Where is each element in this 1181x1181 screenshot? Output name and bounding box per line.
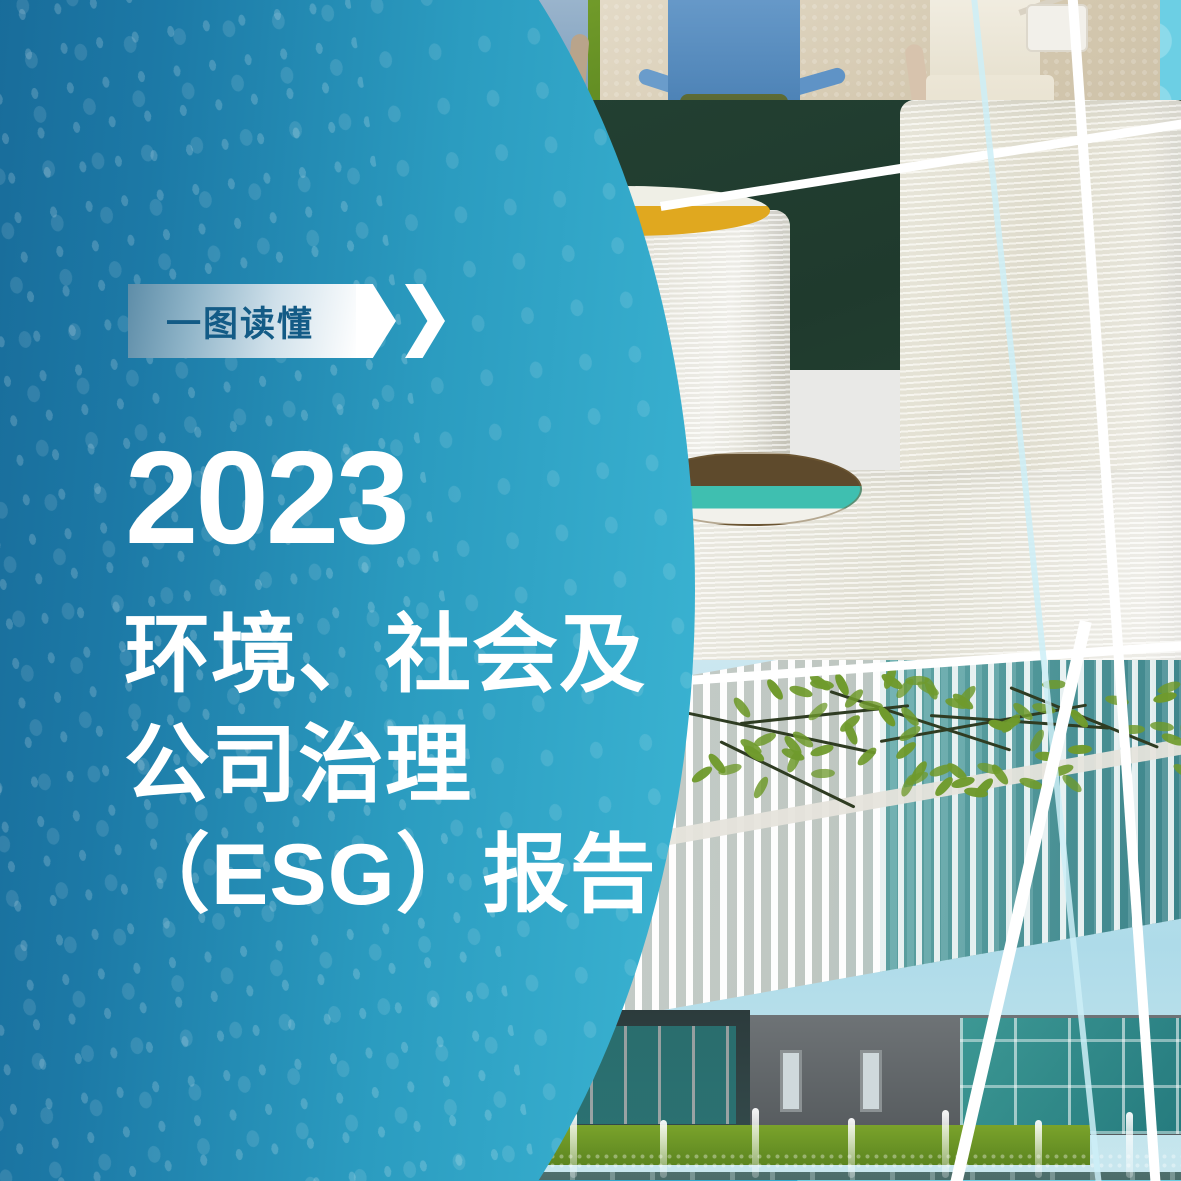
tree-leaf (1027, 728, 1046, 753)
tree-leaf (751, 775, 770, 800)
tree-leaf (1018, 775, 1044, 791)
tree-leaf (788, 683, 814, 699)
tree-leaf (899, 772, 917, 798)
tree-leaf (1060, 772, 1084, 795)
chevron-right-icon (356, 284, 396, 358)
tree-leaf (1171, 762, 1181, 782)
tree-leaf (811, 769, 835, 779)
tree-leaf (810, 743, 836, 759)
tree-leaf (1149, 720, 1174, 732)
tree-leaf (764, 677, 785, 702)
base-window-2 (860, 1050, 882, 1112)
tree-leaf (806, 700, 830, 723)
tree-leaf (1068, 745, 1092, 755)
tree-branches (680, 670, 1181, 820)
fountain-jet (1126, 1112, 1133, 1178)
fountain-jet (752, 1108, 759, 1178)
badge-body: 一图读懂 (128, 284, 358, 358)
badge-label: 一图读懂 (166, 296, 320, 347)
page-title: 环境、社会及 公司治理 （ESG）报告 (124, 600, 657, 930)
poster-canvas: 一图读懂 2023 环境、社会及 公司治理 （ESG）报告 (0, 0, 1181, 1181)
fountain-jet (1035, 1120, 1042, 1178)
title-line-1: 环境、社会及 (124, 600, 657, 710)
tree-leaf (893, 740, 917, 762)
poster-content: 一图读懂 2023 环境、社会及 公司治理 （ESG）报告 (0, 0, 640, 1181)
title-line-3: （ESG）报告 (124, 820, 657, 930)
title-line-2: 公司治理 (124, 710, 657, 820)
double-chevron-right-icon (405, 284, 445, 358)
tree-leaf (842, 721, 860, 747)
fountain-jet (848, 1118, 855, 1178)
fountain-jet (942, 1110, 949, 1178)
tree-leaf (1160, 731, 1181, 748)
tree-leaf (809, 679, 834, 691)
highlight-badge[interactable]: 一图读懂 (128, 284, 445, 358)
tree-leaf (731, 695, 753, 719)
base-window-1 (780, 1050, 802, 1112)
year-heading: 2023 (125, 432, 407, 564)
